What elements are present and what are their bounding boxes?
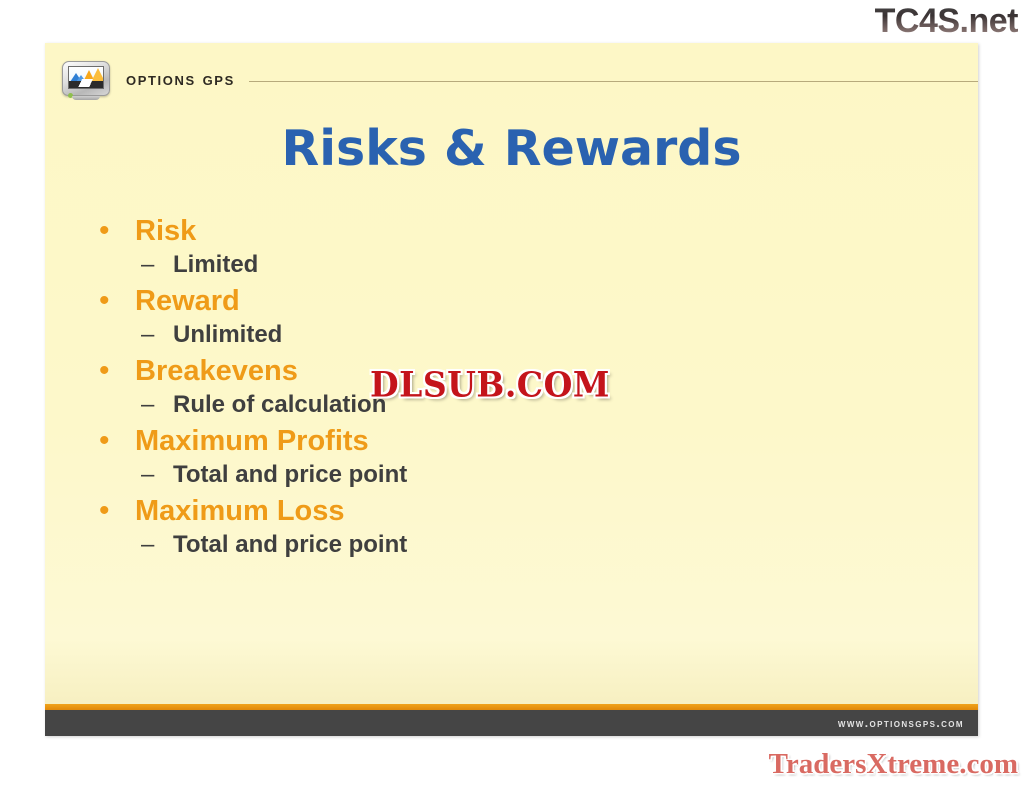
bullet-item-maximum-profits: • Maximum Profits — [93, 425, 933, 458]
sub-bullet-item-reward: – Unlimited — [141, 321, 933, 349]
bullet-label: Maximum Profits — [135, 425, 369, 458]
slide-title: Risks & Rewards — [45, 120, 978, 177]
partner-brand-tradersxtreme: TradersXtreme.com — [769, 748, 1018, 781]
sub-bullet-dash-icon: – — [141, 393, 173, 417]
bullet-label: Risk — [135, 215, 196, 248]
footer-website-url: www.OptionsGPS.com — [838, 716, 964, 730]
bullet-item-risk: • Risk — [93, 215, 933, 248]
bullet-label: Maximum Loss — [135, 495, 345, 528]
sub-bullet-label: Total and price point — [173, 461, 407, 489]
bullet-dot-icon: • — [93, 356, 135, 386]
sub-bullet-label: Rule of calculation — [173, 391, 386, 419]
sub-bullet-dash-icon: – — [141, 463, 173, 487]
presentation-slide: Options GPS Risks & Rewards • Risk – Lim… — [45, 43, 978, 736]
sub-bullet-label: Total and price point — [173, 531, 407, 559]
sub-bullet-item-maximum-profits: – Total and price point — [141, 461, 933, 489]
sub-bullet-label: Limited — [173, 251, 258, 279]
bullet-dot-icon: • — [93, 496, 135, 526]
bullet-dot-icon: • — [93, 426, 135, 456]
bullet-label: Reward — [135, 285, 240, 318]
sub-bullet-item-maximum-loss: – Total and price point — [141, 531, 933, 559]
sub-bullet-item-risk: – Limited — [141, 251, 933, 279]
header-divider-rule — [249, 81, 978, 82]
sub-bullet-dash-icon: – — [141, 323, 173, 347]
site-brand-tc4s: TC4S.net — [875, 2, 1018, 41]
sub-bullet-dash-icon: – — [141, 533, 173, 557]
bullet-dot-icon: • — [93, 216, 135, 246]
sub-bullet-label: Unlimited — [173, 321, 282, 349]
bullet-label: Breakevens — [135, 355, 298, 388]
bullet-item-maximum-loss: • Maximum Loss — [93, 495, 933, 528]
dlsub-watermark: DLSUB.COM — [370, 364, 610, 405]
slide-header: Options GPS — [45, 57, 978, 103]
gps-device-icon — [60, 60, 114, 100]
slide-footer: www.OptionsGPS.com — [45, 710, 978, 736]
bullet-item-reward: • Reward — [93, 285, 933, 318]
options-gps-wordmark: Options GPS — [126, 69, 235, 91]
sub-bullet-dash-icon: – — [141, 253, 173, 277]
bullet-dot-icon: • — [93, 286, 135, 316]
